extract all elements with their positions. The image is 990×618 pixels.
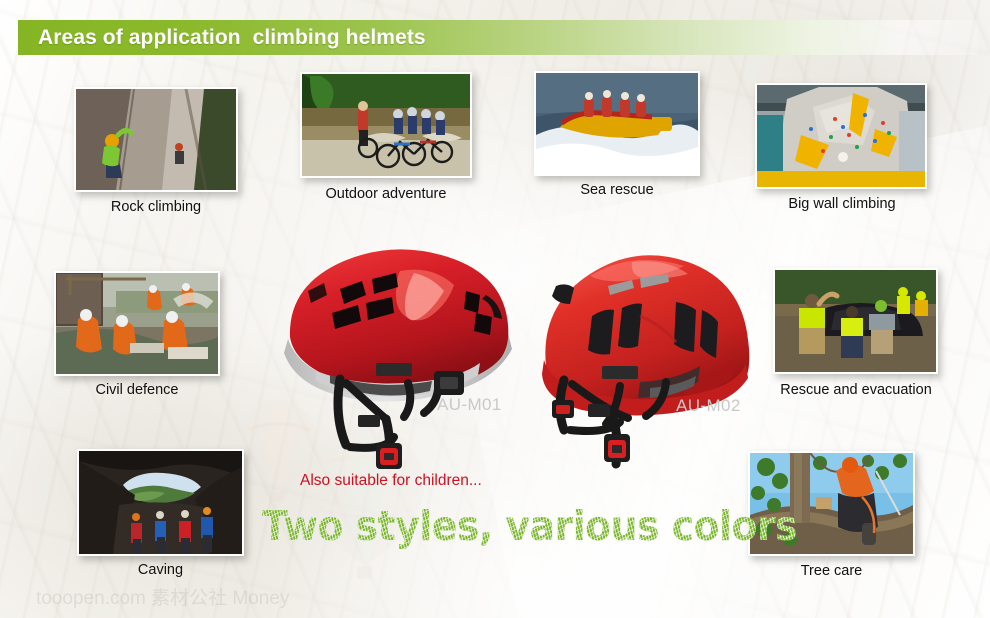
product-model-label-au-m01: AU-M01 (437, 395, 502, 415)
photo-big-wall-climbing[interactable] (755, 83, 927, 189)
caption-rescue-and-evacuation: Rescue and evacuation (756, 382, 956, 398)
caption-sea-rescue: Sea rescue (534, 182, 700, 198)
product-helmet-au-m01[interactable] (280, 243, 516, 473)
photo-rock-climbing[interactable] (74, 87, 238, 192)
photo-rescue-and-evacuation[interactable] (773, 268, 938, 374)
caption-tree-care: Tree care (748, 563, 915, 579)
caption-outdoor-adventure: Outdoor adventure (290, 186, 482, 202)
tagline: Two styles, various colors (262, 502, 797, 550)
photo-outdoor-adventure[interactable] (300, 72, 472, 178)
photo-civil-defence[interactable] (54, 271, 220, 376)
photo-image-sea-rescue (536, 73, 698, 174)
caption-big-wall-climbing: Big wall climbing (748, 196, 936, 212)
photo-image-outdoor-adventure (302, 74, 470, 176)
caption-civil-defence: Civil defence (50, 382, 224, 398)
page-title: Areas of application climbing helmets (38, 21, 426, 54)
photo-image-rock-climbing (76, 89, 236, 190)
photo-image-big-wall-climbing (757, 85, 925, 187)
caption-caving: Caving (77, 562, 244, 578)
photo-caving[interactable] (77, 449, 244, 556)
photo-image-rescue-and-evacuation (775, 270, 936, 372)
children-note: Also suitable for children... (300, 472, 482, 490)
photo-sea-rescue[interactable] (534, 71, 700, 176)
tagline-text: Two styles, various colors (262, 502, 797, 550)
photo-image-civil-defence (56, 273, 218, 374)
photo-image-caving (79, 451, 242, 554)
caption-rock-climbing: Rock climbing (74, 199, 238, 215)
product-model-label-au-m02: AU-M02 (676, 396, 741, 416)
product-helmet-au-m02[interactable] (536, 240, 756, 472)
watermark: tooopen.com 素材公社 Money (36, 583, 289, 610)
poster-canvas: Areas of application climbing helmets Ro… (0, 0, 990, 618)
